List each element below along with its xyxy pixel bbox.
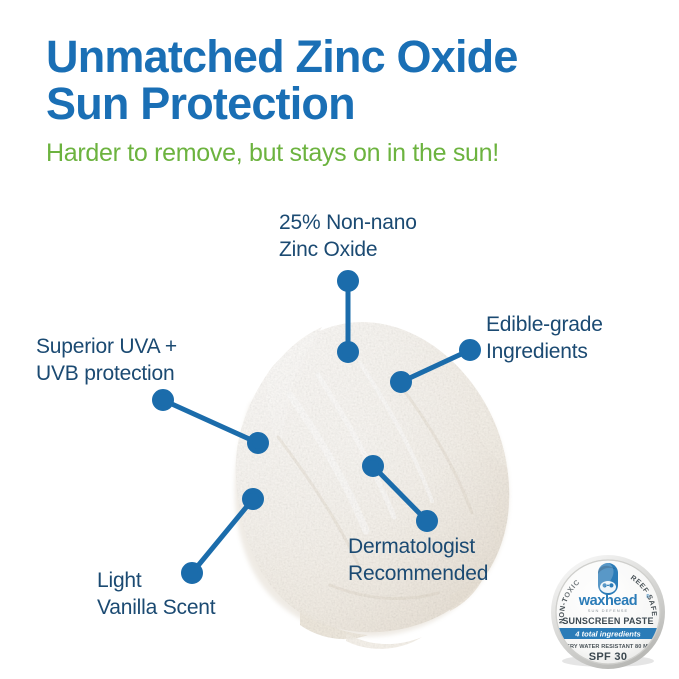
tin-spf: SPF 30 xyxy=(589,651,628,663)
tin-product-type: SUNSCREEN PASTE xyxy=(562,616,653,626)
tin-trademark: ® xyxy=(646,593,650,600)
tin-brand-tagline: SUN DEFENSE xyxy=(588,608,629,613)
connector-zinc xyxy=(340,273,357,361)
tin-banner-text: 4 total ingredients xyxy=(574,629,640,638)
callout-zinc-oxide: 25% Non-nano Zinc Oxide xyxy=(279,209,499,263)
product-tin: NON-TOXIC REEF SAFE waxhead ® SUN DEFENS… xyxy=(549,553,667,671)
connector-derm xyxy=(365,458,436,530)
connector-edible xyxy=(393,342,479,391)
callout-dermatologist: Dermatologist Recommended xyxy=(348,533,578,587)
connector-uva xyxy=(155,392,267,452)
page-subtitle: Harder to remove, but stays on in the su… xyxy=(46,138,666,168)
tin-water-resistance: VERY WATER RESISTANT 80 MIN xyxy=(562,644,653,650)
callout-vanilla-scent: Light Vanilla Scent xyxy=(97,567,317,621)
callout-edible-grade: Edible-grade Ingredients xyxy=(486,311,679,365)
page-title: Unmatched Zinc Oxide Sun Protection xyxy=(46,33,646,127)
infographic-canvas: Unmatched Zinc Oxide Sun Protection Hard… xyxy=(0,0,679,679)
callout-uva-uvb: Superior UVA + UVB protection xyxy=(36,333,266,387)
